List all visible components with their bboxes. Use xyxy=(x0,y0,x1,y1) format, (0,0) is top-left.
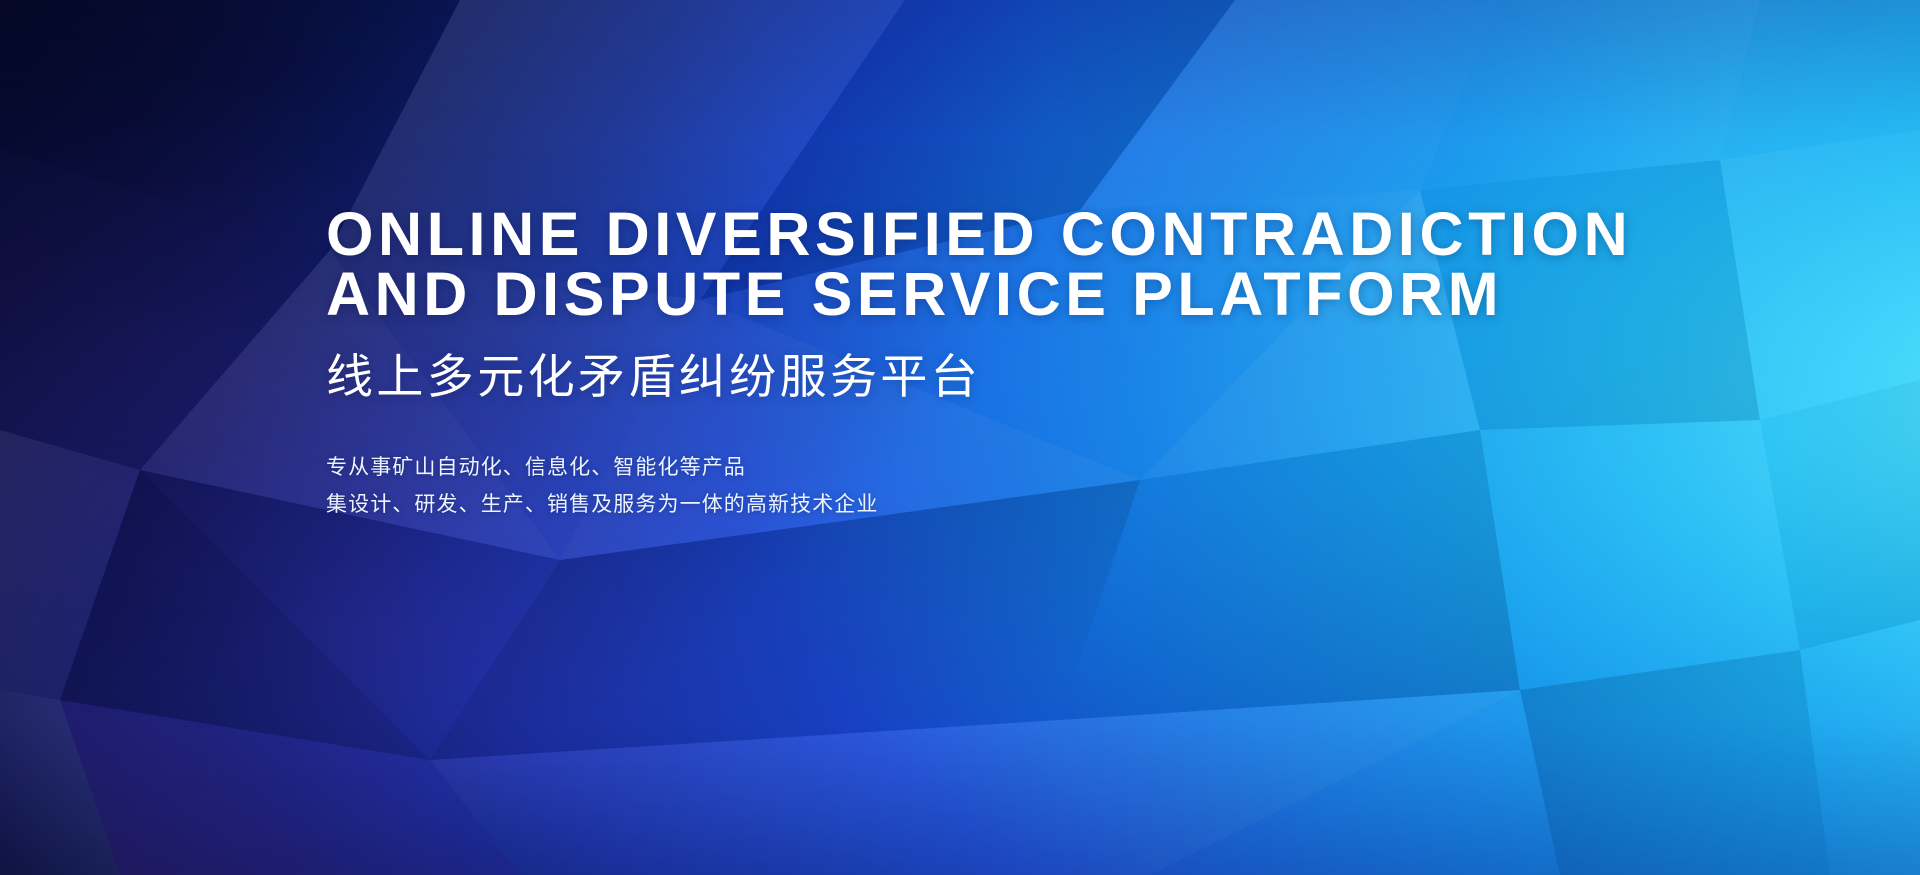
hero-content: ONLINE DIVERSIFIED CONTRADICTION AND DIS… xyxy=(326,204,1676,523)
headline-line-1: ONLINE DIVERSIFIED CONTRADICTION xyxy=(326,204,1676,264)
hero-headline-english: ONLINE DIVERSIFIED CONTRADICTION AND DIS… xyxy=(326,204,1676,324)
hero-tagline: 专从事矿山自动化、信息化、智能化等产品 集设计、研发、生产、销售及服务为一体的高… xyxy=(326,449,1676,523)
hero-subtitle-chinese: 线上多元化矛盾纠纷服务平台 xyxy=(326,349,1676,405)
tagline-line-2: 集设计、研发、生产、销售及服务为一体的高新技术企业 xyxy=(326,486,1676,523)
tagline-line-1: 专从事矿山自动化、信息化、智能化等产品 xyxy=(326,449,1676,486)
hero-banner: ONLINE DIVERSIFIED CONTRADICTION AND DIS… xyxy=(0,0,1920,875)
headline-line-2: AND DISPUTE SERVICE PLATFORM xyxy=(326,264,1676,324)
